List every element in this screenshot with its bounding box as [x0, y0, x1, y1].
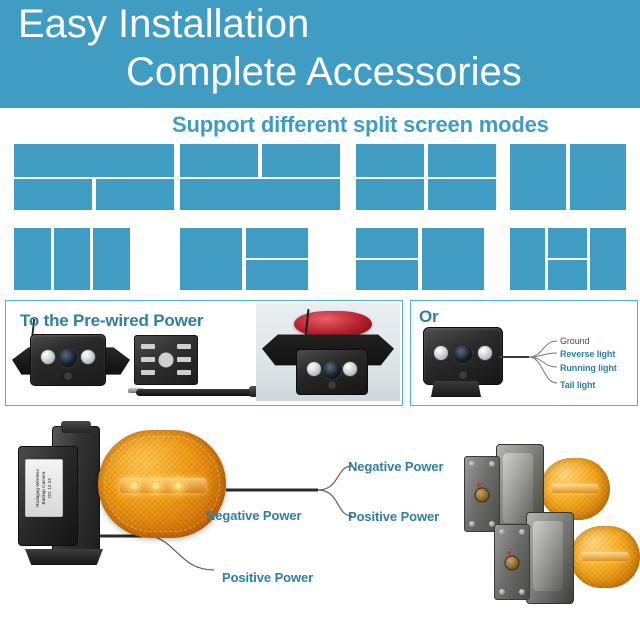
split-mode-cell	[510, 144, 566, 210]
mounting-plate	[134, 335, 198, 385]
amber-marker-light	[570, 526, 640, 588]
ir-led-right-icon	[342, 361, 358, 377]
plate-center-hole	[159, 353, 174, 368]
installed-on-vehicle-photo	[256, 303, 400, 401]
split-mode-cell	[180, 144, 258, 177]
plate-slot	[141, 344, 155, 349]
camera-button-icon	[63, 371, 73, 381]
split-mode-cell	[246, 260, 308, 290]
split-mode-cell	[356, 260, 418, 290]
split-mode-cell	[548, 260, 586, 290]
led-dot	[130, 481, 138, 490]
camera-housing	[526, 512, 574, 604]
dc-power-cable	[136, 389, 258, 396]
split-mode-cell	[93, 228, 130, 290]
split-screen-mode-grid	[0, 138, 640, 290]
camera-lens-icon	[505, 556, 520, 571]
product-spec-label-text: Rodagog WirelessBackup CameraDC 12-24	[35, 469, 53, 507]
bolt-icon	[489, 461, 495, 467]
pre-wired-power-panel: To the Pre-wired Power	[5, 300, 403, 406]
split-screen-section-title: Support different split screen modes	[172, 112, 549, 138]
camera-body	[296, 349, 368, 395]
split-mode-cell	[356, 179, 424, 210]
bolt-icon	[469, 521, 475, 527]
camera-faceplate	[464, 456, 500, 532]
split-mode-cell	[356, 144, 424, 177]
split-mode-two-stacked-left-big-right	[356, 228, 484, 290]
split-mode-cell	[180, 179, 340, 210]
or-wiring-panel: Or Ground Reverse light Running light Ta…	[410, 300, 638, 406]
or-label: Or	[419, 307, 438, 327]
status-led-icon	[477, 483, 481, 487]
plate-slot	[177, 357, 191, 362]
bottom-product-section: Rodagog WirelessBackup CameraDC 12-24 Ne…	[0, 408, 640, 617]
camera-lens-icon	[57, 347, 79, 369]
product-spec-label: Rodagog WirelessBackup CameraDC 12-24	[25, 459, 63, 517]
bolt-icon	[519, 529, 525, 535]
split-mode-cell	[590, 228, 626, 290]
bolt-icon	[469, 461, 475, 467]
split-mode-two-top-one-bottom	[180, 144, 340, 210]
split-mode-cell	[422, 228, 484, 290]
header-banner: Easy Installation Complete Accessories	[0, 0, 640, 108]
camera-faceplate	[494, 524, 530, 600]
led-bar	[552, 484, 598, 493]
pre-wired-power-label: To the Pre-wired Power	[20, 311, 203, 331]
led-dot	[152, 481, 160, 490]
callout-negative-power-left: Negative Power	[206, 508, 301, 523]
split-mode-cell	[428, 179, 496, 210]
wire-label-ground: Ground	[560, 336, 589, 346]
camera-body	[30, 334, 106, 386]
split-mode-cell	[262, 144, 340, 177]
callout-negative-power-right: Negative Power	[348, 459, 443, 474]
product-assembly-pair	[452, 430, 640, 615]
bolt-icon	[499, 529, 505, 535]
split-mode-cell	[570, 144, 626, 210]
led-dot	[174, 481, 182, 490]
callout-positive-power-left: Positive Power	[222, 570, 313, 585]
wire-label-running-light: Running light	[560, 363, 617, 373]
split-mode-cell	[246, 228, 308, 258]
infographic-page: Easy Installation Complete Accessories S…	[0, 0, 640, 617]
split-mode-big-left-two-stacked-right	[180, 228, 308, 290]
plate-slot	[177, 370, 191, 375]
split-mode-cell	[428, 144, 496, 177]
wire-label-tail-light: Tail light	[560, 380, 595, 390]
banner-title-line1: Easy Installation	[18, 2, 309, 47]
callout-positive-power-right: Positive Power	[348, 509, 439, 524]
split-mode-quad-2x2	[356, 144, 496, 210]
amber-marker-light	[540, 458, 610, 520]
plate-slot	[141, 357, 155, 362]
bolt-icon	[519, 589, 525, 595]
camera-lens-icon	[475, 488, 490, 503]
plate-slot	[141, 370, 155, 375]
camera-lens-icon	[321, 359, 343, 381]
ir-led-left-icon	[40, 349, 56, 365]
ir-led-left-icon	[306, 361, 322, 377]
split-mode-cell	[14, 144, 174, 177]
camera-button-icon	[327, 380, 337, 390]
split-mode-cell	[510, 228, 545, 290]
backup-camera-unit: Rodagog WirelessBackup CameraDC 12-24	[18, 446, 78, 546]
split-mode-cell	[180, 228, 242, 290]
split-mode-cell	[356, 228, 418, 258]
wire-label-reverse-light: Reverse light	[560, 349, 615, 359]
banner-title-line2: Complete Accessories	[126, 50, 522, 95]
split-mode-cell	[548, 228, 586, 258]
split-mode-two-vertical-halves	[510, 144, 626, 210]
split-mode-one-top-two-bottom	[14, 144, 174, 210]
split-mode-cell	[14, 228, 51, 290]
split-mode-cell	[14, 179, 92, 210]
split-mode-column-two-stacked-column	[510, 228, 626, 290]
led-bar	[582, 552, 628, 561]
split-mode-three-columns	[14, 228, 130, 290]
plate-slot	[177, 344, 191, 349]
bolt-icon	[499, 589, 505, 595]
status-led-icon	[507, 551, 511, 555]
ir-led-right-icon	[80, 349, 96, 365]
split-mode-cell	[96, 179, 174, 210]
split-mode-cell	[54, 228, 91, 290]
